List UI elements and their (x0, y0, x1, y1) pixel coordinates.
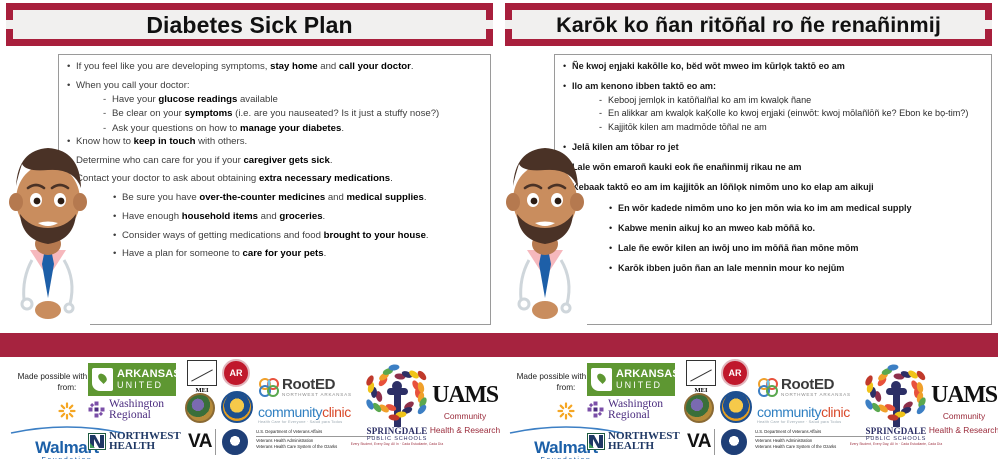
tribal-seal-1-icon (185, 393, 215, 423)
list-item: •Kabwe menin aikuj ko an mweo kab mōñā k… (609, 223, 983, 235)
page-title-english: Diabetes Sick Plan (8, 4, 491, 46)
uams-logo: UAMS Community Health & Research (923, 383, 998, 435)
bullet-marker: • (67, 61, 76, 73)
bullet-marker: - (103, 94, 112, 106)
uams-sub1: Community (923, 411, 998, 421)
list-item: •Kebaak taktō eo am im kajjitōk an lōñlọ… (563, 182, 983, 194)
list-item-text: Determine who can care for you if your c… (76, 155, 482, 167)
tribal-seal-1-icon (684, 393, 714, 423)
list-item-text: Consider ways of getting medications and… (122, 230, 482, 242)
va-abbr: VA (687, 431, 711, 453)
list-item-text: Kebaak taktō eo am im kajjitōk an lōñlọk… (572, 182, 983, 194)
arkansas-united-mark-icon (92, 368, 113, 391)
list-item: -Kebooj jemlọk in katōñalñal ko am im kw… (599, 95, 983, 107)
community-clinic-part2: clinic (821, 404, 850, 420)
uams-name: UAMS (923, 383, 998, 407)
bullet-marker: - (599, 122, 608, 134)
list-item: -En alikkar am kwalọk kaḲolle ko kwoj eŋ… (599, 108, 983, 120)
list-item-text: Be sure you have over-the-counter medici… (122, 192, 482, 204)
footer-logos: Made possible with funding from: Walmart… (0, 357, 998, 459)
arkansas-united-line2: UNITED (117, 381, 181, 390)
list-item: -Have your glucose readings available (103, 94, 482, 106)
rooted-name: RootED (781, 377, 851, 392)
bullet-marker: - (599, 95, 608, 107)
walmart-spark-icon (557, 402, 575, 420)
arkansas-united-line2: UNITED (616, 381, 680, 390)
list-item: •Lale wōn emaroñ kauki eok ñe enañinmij … (563, 162, 983, 174)
list-item: •En wōr kadede nimōm uno ko jen mōn wia … (609, 203, 983, 215)
uams-sub2: Health & Research (923, 425, 998, 435)
bullet-marker: - (599, 108, 608, 120)
rooted-mark-icon (757, 377, 781, 397)
list-item: •If you feel like you are developing sym… (67, 61, 482, 73)
washington-regional-logo: Washington Regional (88, 398, 184, 421)
list-item-text: En wōr kadede nimōm uno ko jen mōn wia k… (618, 203, 983, 215)
bullet-marker: • (609, 263, 618, 275)
bullet-marker: • (113, 192, 122, 204)
tree-leaf (887, 363, 899, 370)
doctor-illustration-left (0, 128, 100, 333)
list-item: •Have enough household items and groceri… (113, 211, 482, 223)
list-item-text: Contact your doctor to ask about obtaini… (76, 173, 482, 185)
list-item-text: Ñe kwoj eŋjaki kakōlle ko, bĕd wōt mweo … (572, 61, 983, 73)
community-clinic-part1: community (258, 404, 322, 420)
list-item: •Ilo am kenono ibben taktō eo am: (563, 81, 983, 93)
poster: Diabetes Sick Plan Karōk ko ñan ritōñal … (0, 0, 998, 459)
header-cell-left: Diabetes Sick Plan (0, 0, 499, 50)
northwest-health-mark-icon (587, 433, 605, 450)
bullet-marker: • (609, 243, 618, 255)
tribal-seal-2-icon (720, 391, 752, 423)
doctor-illustration-right (499, 128, 597, 333)
list-item: •Karōk ibben juōn ñan an lale mennin mou… (609, 263, 983, 275)
list-item: •Ñe kwoj eŋjaki kakōlle ko, bĕd wōt mweo… (563, 61, 983, 73)
bullet-marker: - (103, 123, 112, 135)
list-item-text: When you call your doctor: (76, 80, 482, 92)
northwest-health-logo: NORTHWEST HEALTH (88, 431, 184, 452)
northwest-health-logo: NORTHWEST HEALTH (587, 431, 683, 452)
tribal-seal-2-icon (221, 391, 253, 423)
arkansas-united-line1: ARKANSAS (616, 369, 680, 380)
community-clinic-part1: community (757, 404, 821, 420)
list-item-text: Be clear on your symptoms (i.e. are you … (112, 108, 482, 120)
page-title-marshallese: Karōk ko ñan ritōñal ro ñe renañinmij (507, 4, 990, 46)
list-item-text: Kajjitōk kilen am madmōde tōñal ne am (608, 122, 983, 134)
uams-sub2: Health & Research (424, 425, 506, 435)
list-item-text: En alikkar am kwalọk kaḲolle ko kwoj eŋj… (608, 108, 983, 120)
bullet-marker: • (113, 211, 122, 223)
content-box-marshallese: •Ñe kwoj eŋjaki kakōlle ko, bĕd wōt mweo… (554, 54, 992, 325)
list-item: -Be clear on your symptoms (i.e. are you… (103, 108, 482, 120)
list-item: •Jelā kilen am tōbar ro jet (563, 142, 983, 154)
northwest-health-mark-icon (88, 433, 106, 450)
list-item-text: Have a plan for someone to care for your… (122, 248, 482, 260)
bullet-marker: • (609, 223, 618, 235)
walmart-spark-icon (58, 402, 76, 420)
arkansas-united-line1: ARKANSAS (117, 369, 181, 380)
washington-regional-line2: Regional (109, 409, 164, 420)
springdale-sub2: Every Student, Every Day, All In · Cada … (350, 442, 444, 446)
header-cell-right: Karōk ko ñan ritōñal ro ñe renañinmij (499, 0, 998, 50)
list-item-text: Kebooj jemlọk in katōñalñal ko am im kwa… (608, 95, 983, 107)
list-item-text: If you feel like you are developing symp… (76, 61, 482, 73)
list-item: •Be sure you have over-the-counter medic… (113, 192, 482, 204)
mei-logo: MEI (684, 360, 718, 394)
tree-leaf (416, 369, 428, 381)
washington-regional-mark-icon (88, 401, 105, 418)
list-item-text: Jelā kilen am tōbar ro jet (572, 142, 983, 154)
northwest-health-line2: HEALTH (608, 441, 680, 451)
list-item-text: Know how to keep in touch with others. (76, 136, 482, 148)
bullet-marker: • (563, 61, 572, 73)
rooted-logo: RootED NORTHWEST ARKANSAS (258, 377, 352, 397)
springdale-sub2: Every Student, Every Day, All In · Cada … (849, 442, 943, 446)
list-item-text: Karōk ibben juōn ñan an lale mennin mour… (618, 263, 983, 275)
bullet-marker: • (563, 81, 572, 93)
list-item: -Kajjitōk kilen am madmōde tōñal ne am (599, 122, 983, 134)
rooted-name: RootED (282, 377, 352, 392)
content-box-english: •If you feel like you are developing sym… (58, 54, 491, 325)
list-item: •Contact your doctor to ask about obtain… (67, 173, 482, 185)
bullet-marker: • (113, 230, 122, 242)
list-item: •When you call your doctor: (67, 80, 482, 92)
washington-regional-mark-icon (587, 401, 604, 418)
list-item: •Consider ways of getting medications an… (113, 230, 482, 242)
rooted-mark-icon (258, 377, 282, 397)
tree-leaf (364, 398, 374, 411)
list-item: •Know how to keep in touch with others. (67, 136, 482, 148)
washington-regional-line2: Regional (608, 409, 663, 420)
header-row: Diabetes Sick Plan Karōk ko ñan ritōñal … (0, 0, 998, 50)
list-item: •Determine who can care for you if your … (67, 155, 482, 167)
va-divider (714, 429, 715, 455)
arkansas-united-logo: ARKANSAS UNITED (587, 363, 675, 396)
bullet-marker: - (103, 108, 112, 120)
ar-seal-icon (222, 359, 250, 387)
footer-half-right: Made possible with funding from: Walmart… (499, 357, 998, 459)
bullet-marker: • (67, 80, 76, 92)
tree-leaf (388, 363, 400, 370)
rooted-logo: RootED NORTHWEST ARKANSAS (757, 377, 851, 397)
ar-seal-icon (721, 359, 749, 387)
northwest-health-line2: HEALTH (109, 441, 181, 451)
bullet-marker: • (113, 248, 122, 260)
list-item-text: Ilo am kenono ibben taktō eo am: (572, 81, 983, 93)
list-item-text: Ask your questions on how to manage your… (112, 123, 482, 135)
footer-divider-bar (0, 333, 998, 357)
uams-sub1: Community (424, 411, 506, 421)
tree-leaf (863, 398, 873, 411)
arkansas-map-icon (187, 360, 217, 386)
list-item-text: Have your glucose readings available (112, 94, 482, 106)
uams-name: UAMS (424, 383, 506, 407)
list-item-text: Kabwe menin aikuj ko an mweo kab mōñā ko… (618, 223, 983, 235)
list-item-text: Have enough household items and grocerie… (122, 211, 482, 223)
arkansas-united-mark-icon (591, 368, 612, 391)
rooted-sub: NORTHWEST ARKANSAS (282, 392, 352, 397)
list-item-text: Lale wōn emaroñ kauki eok ñe enañinmij r… (572, 162, 983, 174)
rooted-sub: NORTHWEST ARKANSAS (781, 392, 851, 397)
va-divider (215, 429, 216, 455)
va-seal-icon (222, 429, 248, 455)
washington-regional-logo: Washington Regional (587, 398, 683, 421)
list-item-text: Lale ñe ewōr kilen an iwōj uno im mōñā ñ… (618, 243, 983, 255)
list-item: -Ask your questions on how to manage you… (103, 123, 482, 135)
bullet-marker: • (609, 203, 618, 215)
community-clinic-part2: clinic (322, 404, 351, 420)
uams-logo: UAMS Community Health & Research (424, 383, 506, 435)
va-abbr: VA (188, 431, 212, 453)
list-item: •Lale ñe ewōr kilen an iwōj uno im mōñā … (609, 243, 983, 255)
panel-english: •If you feel like you are developing sym… (0, 50, 499, 333)
body-row: •If you feel like you are developing sym… (0, 50, 998, 333)
tree-leaf (915, 369, 927, 381)
panel-marshallese: •Ñe kwoj eŋjaki kakōlle ko, bĕd wōt mweo… (499, 50, 998, 333)
va-seal-icon (721, 429, 747, 455)
arkansas-map-icon (686, 360, 716, 386)
list-item: •Have a plan for someone to care for you… (113, 248, 482, 260)
footer-half-left: Made possible with funding from: Walmart… (0, 357, 499, 459)
mei-logo: MEI (185, 360, 219, 394)
arkansas-united-logo: ARKANSAS UNITED (88, 363, 176, 396)
